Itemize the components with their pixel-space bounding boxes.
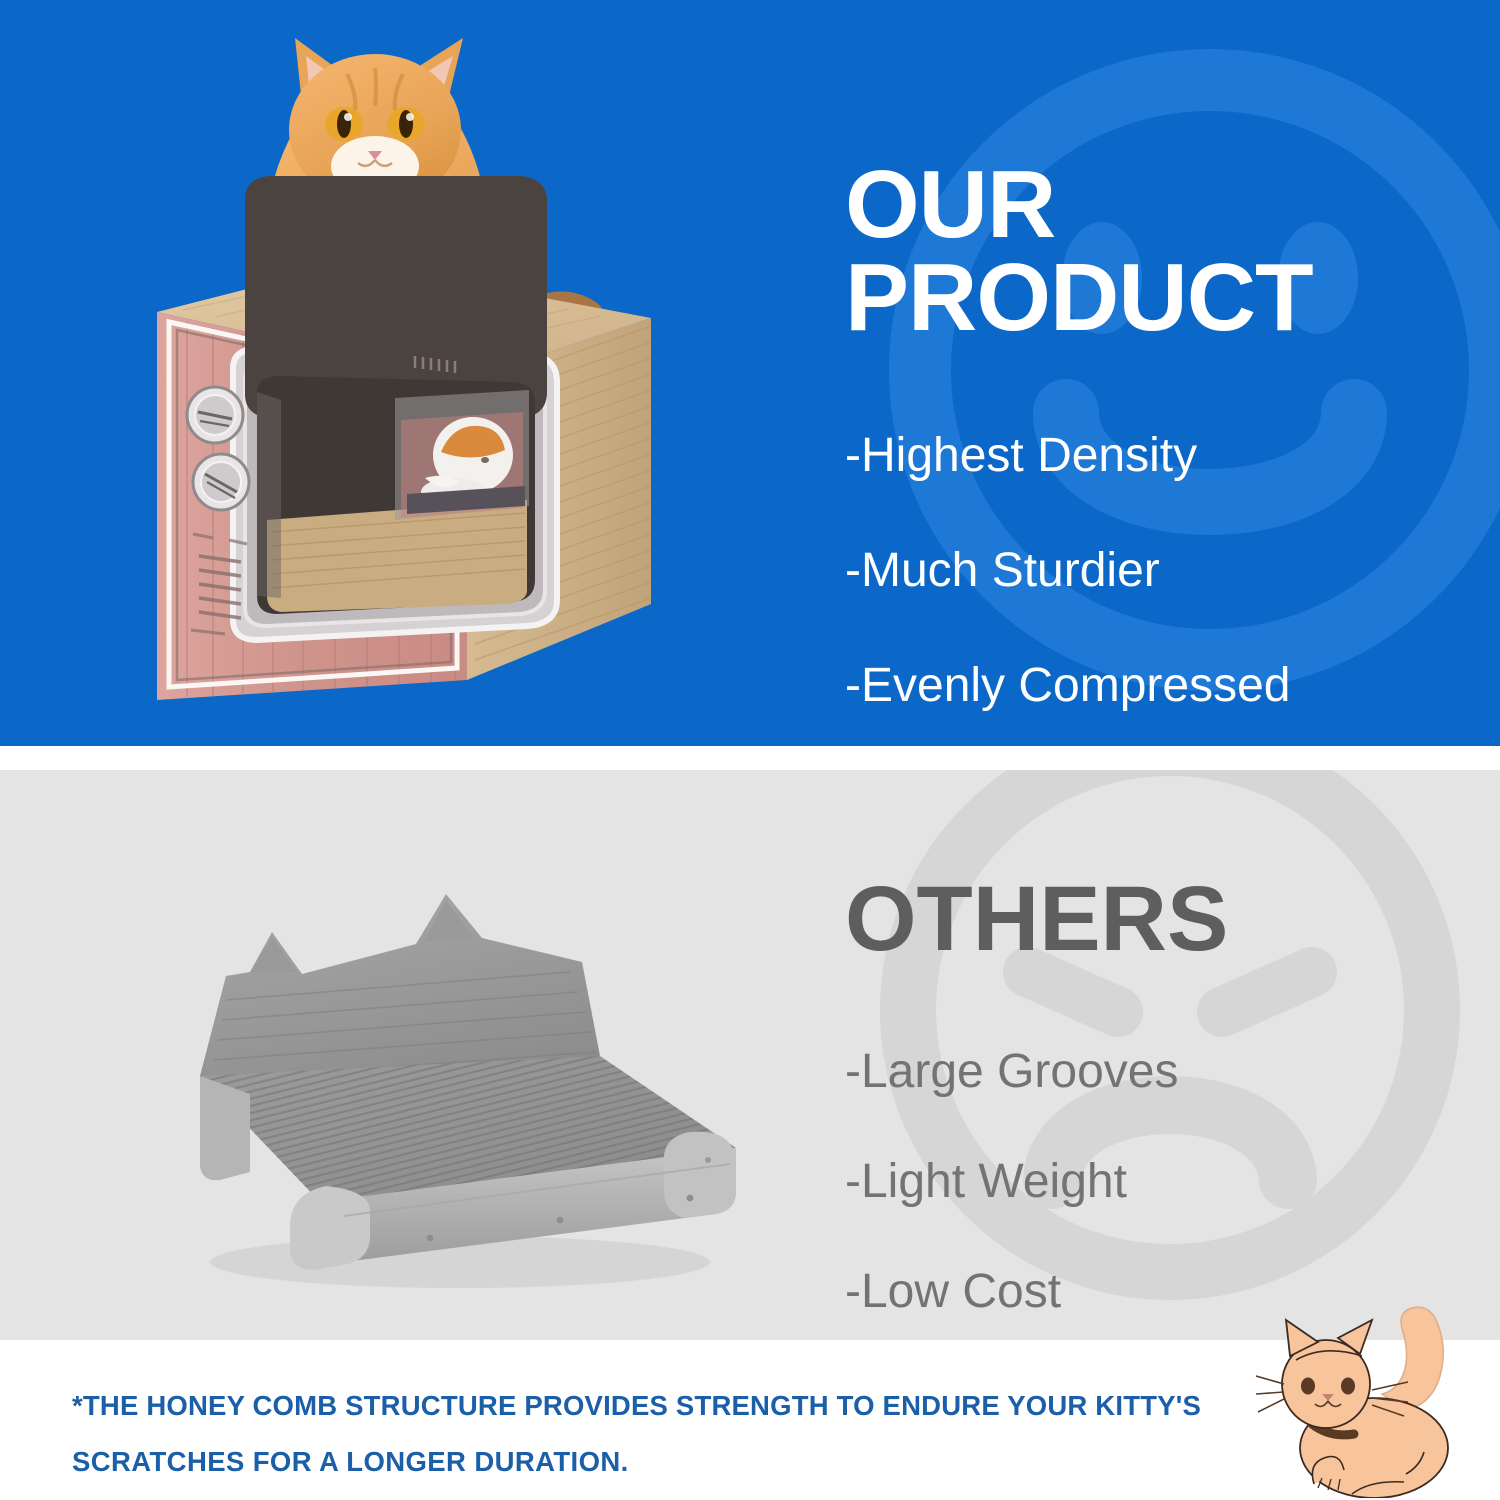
bullet-item: -Large Grooves [845, 1048, 1465, 1096]
footer-note: *THE HONEY COMB STRUCTURE PROVIDES STREN… [72, 1378, 1252, 1491]
others-panel: OTHERS -Large Grooves -Light Weight -Low… [0, 770, 1500, 1340]
our-product-panel: OUR PRODUCT -Highest Density -Much Sturd… [0, 0, 1500, 746]
our-product-bullet-list: -Highest Density -Much Sturdier -Evenly … [845, 432, 1465, 710]
others-bullet-list: -Large Grooves -Light Weight -Low Cost [845, 1048, 1465, 1316]
product-comparison-infographic: OUR PRODUCT -Highest Density -Much Sturd… [0, 0, 1500, 1500]
our-product-photo [95, 0, 715, 730]
our-product-text-block: OUR PRODUCT -Highest Density -Much Sturd… [845, 158, 1465, 710]
others-product-photo [130, 880, 770, 1300]
tv-front-panel [157, 176, 557, 700]
bullet-item: -Highest Density [845, 432, 1465, 480]
tv-dial-upper [187, 387, 243, 443]
footer-line-2: SCRATCHES FOR A LONGER DURATION. [72, 1434, 1252, 1490]
bullet-item: -Much Sturdier [845, 547, 1465, 595]
others-text-block: OTHERS -Large Grooves -Light Weight -Low… [845, 875, 1465, 1316]
bullet-item: -Evenly Compressed [845, 662, 1465, 710]
bullet-item: -Light Weight [845, 1158, 1465, 1206]
our-product-headline: OUR PRODUCT [845, 158, 1465, 344]
headline-line-2: PRODUCT [845, 251, 1465, 344]
tv-dial-lower [193, 454, 249, 510]
headline-line-1: OUR [845, 151, 1055, 258]
footer-line-1: *THE HONEY COMB STRUCTURE PROVIDES STREN… [72, 1378, 1252, 1434]
cartoon-cat-mascot-icon [1256, 1298, 1466, 1498]
others-headline: OTHERS [845, 875, 1465, 964]
bullet-item: -Low Cost [845, 1268, 1465, 1316]
